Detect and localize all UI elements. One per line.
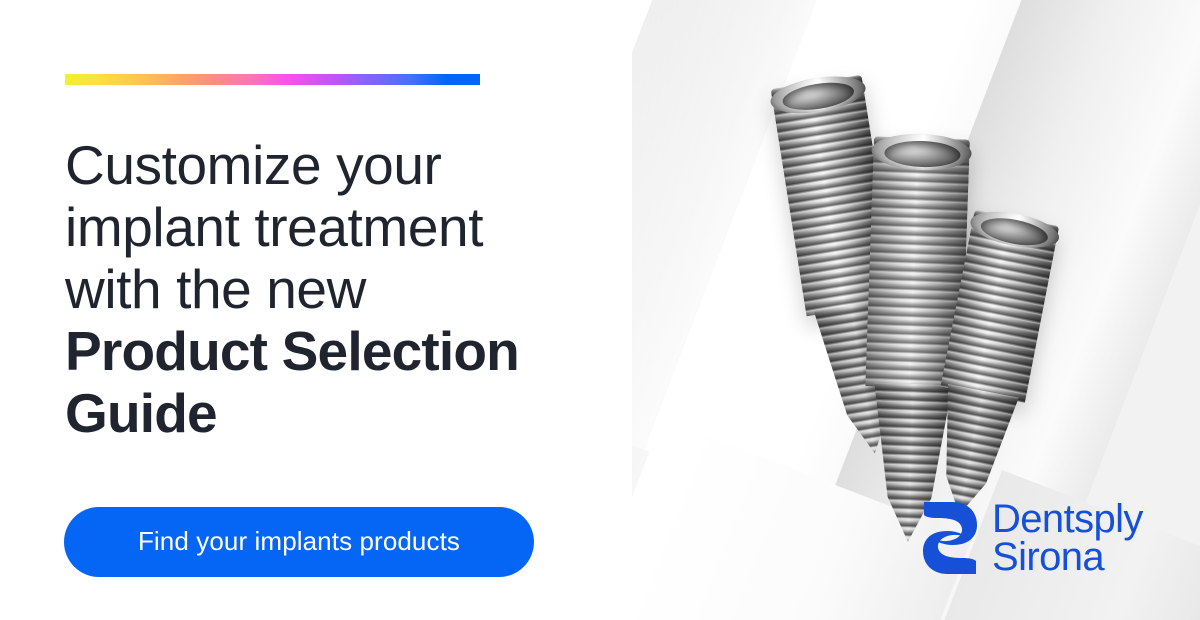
headline-line-3: with the new [65, 258, 585, 320]
page-title: Customize your implant treatment with th… [65, 134, 585, 444]
headline-line-4: Product Selection [65, 320, 585, 382]
logo-line-sirona: Sirona [992, 538, 1143, 576]
copy-panel: Customize your implant treatment with th… [0, 0, 632, 620]
headline-line-5: Guide [65, 382, 585, 444]
gradient-accent-bar [65, 74, 480, 85]
find-implants-products-button[interactable]: Find your implants products [64, 507, 534, 577]
dentsply-sirona-s-mark [922, 500, 978, 576]
dentsply-sirona-logo: Dentsply Sirona [922, 500, 1143, 576]
promo-banner: Customize your implant treatment with th… [0, 0, 1200, 620]
headline-line-1: Customize your [65, 134, 585, 196]
logo-line-dentsply: Dentsply [992, 500, 1143, 538]
headline-line-2: implant treatment [65, 196, 585, 258]
dental-implant-group [742, 60, 1102, 490]
logo-wordmark: Dentsply Sirona [992, 500, 1143, 576]
product-image-panel: Dentsply Sirona [632, 0, 1200, 620]
